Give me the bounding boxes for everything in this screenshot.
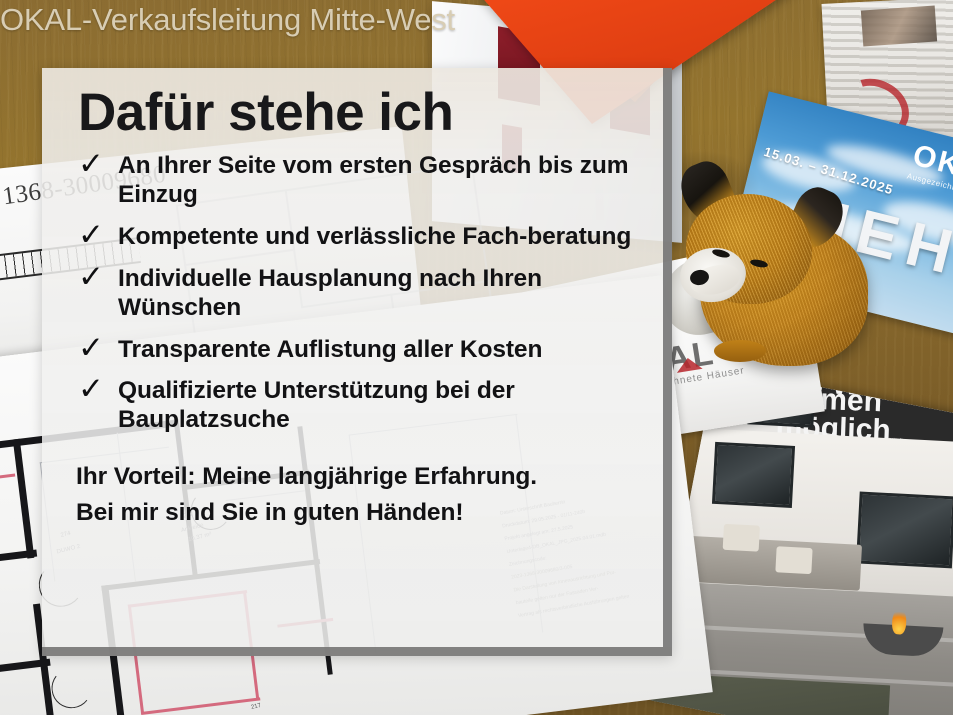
list-item: ✓ Individuelle Hausplanung nach Ihren Wü… (66, 265, 637, 323)
blueprint-annotation-line (0, 474, 15, 486)
blueprint-wall (0, 549, 37, 568)
closing-line-1: Ihr Vorteil: Meine langjährige Erfahrung… (76, 459, 637, 495)
list-item-label: Individuelle Hausplanung nach Ihren Wüns… (118, 265, 542, 321)
check-icon: ✓ (78, 149, 104, 180)
sofa-cushion (775, 546, 812, 574)
list-item-label: An Ihrer Seite vom ersten Gespräch bis z… (118, 152, 628, 208)
check-icon: ✓ (78, 262, 104, 293)
check-icon: ✓ (78, 374, 104, 405)
screenshot-canvas: 15.03. – 31.12.2025 MEHR OKAL Ausgezeich… (0, 0, 953, 715)
list-item: ✓ Kompetente und verlässliche Fach-berat… (66, 223, 637, 252)
closing-statement: Ihr Vorteil: Meine langjährige Erfahrung… (76, 459, 637, 530)
check-icon: ✓ (78, 333, 104, 364)
blueprint-wall (13, 439, 35, 559)
list-item-label: Transparente Auflistung aller Kosten (118, 336, 542, 363)
blueprint-dimension: 217 (251, 703, 262, 711)
content-panel: Dafür stehe ich ✓ An Ihrer Seite vom ers… (42, 68, 672, 656)
closing-line-2: Bei mir sind Sie in guten Händen! (76, 495, 637, 531)
brochure-brand-block: OKAL Ausgezeichnete Häuser (906, 138, 953, 203)
blueprint-annotation-line (141, 697, 260, 715)
benefits-checklist: ✓ An Ihrer Seite vom ersten Gespräch bis… (66, 152, 637, 435)
list-item: ✓ Qualifizierte Unterstützung bei der Ba… (66, 377, 637, 435)
list-item-label: Qualifizierte Unterstützung bei der Baup… (118, 377, 515, 433)
magazine-photo-strip (861, 5, 937, 46)
panel-heading: Dafür stehe ich (78, 86, 637, 140)
plush-fox-figurine (664, 166, 878, 366)
sofa-cushion (723, 524, 760, 552)
photo-house-window-left (712, 442, 795, 508)
list-item: ✓ Transparente Auflistung aller Kosten (66, 336, 637, 365)
blueprint-door-swing (49, 666, 94, 711)
page-title: OKAL-Verkaufsleitung Mitte-West (0, 2, 455, 38)
check-icon: ✓ (78, 220, 104, 251)
photo-house-window-right (856, 491, 953, 568)
list-item: ✓ An Ihrer Seite vom ersten Gespräch bis… (66, 152, 637, 210)
fox-paw (714, 340, 766, 362)
list-item-label: Kompetente und verlässliche Fach-beratun… (118, 223, 631, 250)
